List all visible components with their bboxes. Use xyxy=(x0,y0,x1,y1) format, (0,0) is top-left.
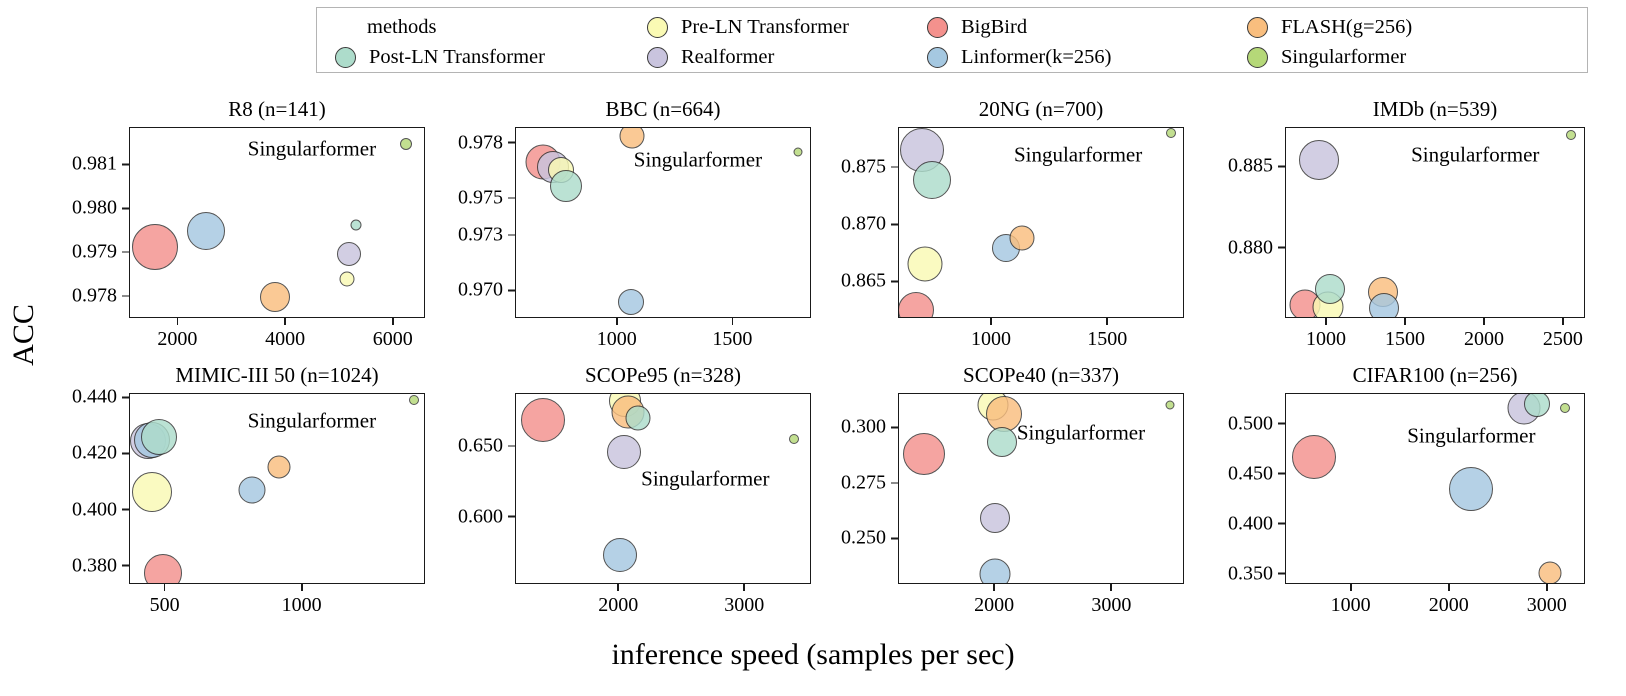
x-tick: 1000 xyxy=(282,584,322,617)
data-point-bigbird xyxy=(1292,435,1336,479)
y-tick-mark xyxy=(508,197,515,199)
subplot-title: BBC (n=664) xyxy=(515,97,811,122)
y-tick-label: 0.978 xyxy=(72,285,117,308)
x-tick-label: 2500 xyxy=(1543,328,1583,351)
plot-area xyxy=(1285,393,1585,584)
x-tick: 1000 xyxy=(597,318,637,351)
subplot-cifar100-n-256: CIFAR100 (n=256)Singularformer0.3500.400… xyxy=(1285,393,1585,584)
x-tick-label: 1000 xyxy=(1306,328,1346,351)
x-tick-mark xyxy=(732,318,734,325)
annotation-singularformer: Singularformer xyxy=(634,148,768,173)
y-tick-label: 0.973 xyxy=(458,223,503,246)
subplot-title: MIMIC-III 50 (n=1024) xyxy=(129,363,425,388)
x-tick: 1000 xyxy=(1306,318,1346,351)
legend-item-flash-g-256[interactable]: FLASH(g=256) xyxy=(1247,14,1412,40)
y-tick: 0.981 xyxy=(72,153,129,176)
x-tick: 1000 xyxy=(1331,584,1371,617)
y-tick-label: 0.979 xyxy=(72,241,117,264)
y-tick-mark xyxy=(891,427,898,429)
x-tick: 2000 xyxy=(598,584,638,617)
y-tick-label: 0.865 xyxy=(841,270,886,293)
subplot-title: SCOPe95 (n=328) xyxy=(515,363,811,388)
legend-item-post-ln-transformer[interactable]: Post-LN Transformer xyxy=(335,44,545,70)
y-tick-mark xyxy=(891,281,898,283)
data-point-flash-g-256 xyxy=(260,282,290,312)
data-point-singularformer xyxy=(1165,400,1174,409)
annotation-singularformer: Singularformer xyxy=(1014,142,1148,167)
data-point-post-ln-transformer xyxy=(550,170,582,202)
y-tick-mark xyxy=(122,509,129,511)
y-tick-label: 0.500 xyxy=(1228,412,1273,435)
data-point-singularformer xyxy=(794,147,803,156)
y-tick-label: 0.978 xyxy=(458,131,503,154)
x-tick-mark xyxy=(1448,584,1450,591)
legend-box: methodsPost-LN TransformerPre-LN Transfo… xyxy=(316,7,1588,73)
y-tick-mark xyxy=(508,142,515,144)
y-tick: 0.420 xyxy=(72,442,129,465)
annotation-singularformer: Singularformer xyxy=(1407,423,1541,448)
x-tick-mark xyxy=(993,584,995,591)
y-tick-label: 0.450 xyxy=(1228,462,1273,485)
y-tick-label: 0.440 xyxy=(72,386,117,409)
data-point-linformer-k-256 xyxy=(603,538,637,572)
x-tick-mark xyxy=(1562,318,1564,325)
annotation-singularformer: Singularformer xyxy=(1017,421,1151,446)
y-tick-label: 0.420 xyxy=(72,442,117,465)
data-point-linformer-k-256 xyxy=(618,289,644,315)
y-tick: 0.973 xyxy=(458,223,515,246)
y-axis-label: ACC xyxy=(7,290,41,380)
data-point-realformer xyxy=(1299,140,1339,180)
y-tick-mark xyxy=(891,482,898,484)
y-tick-label: 0.400 xyxy=(1228,512,1273,535)
y-tick: 0.880 xyxy=(1228,236,1285,259)
data-point-flash-g-256 xyxy=(1010,226,1035,251)
y-tick: 0.380 xyxy=(72,554,129,577)
x-tick-mark xyxy=(164,584,166,591)
x-tick-mark xyxy=(616,318,618,325)
subplot-title: R8 (n=141) xyxy=(129,97,425,122)
y-tick-mark xyxy=(1278,247,1285,249)
data-point-flash-g-256 xyxy=(620,127,645,149)
circle-marker xyxy=(647,47,668,68)
y-tick: 0.440 xyxy=(72,386,129,409)
x-tick-label: 2000 xyxy=(974,594,1014,617)
x-tick-mark xyxy=(392,318,394,325)
y-tick: 0.870 xyxy=(841,213,898,236)
y-tick-label: 0.400 xyxy=(72,498,117,521)
y-tick-mark xyxy=(508,445,515,447)
annotation-singularformer: Singularformer xyxy=(248,408,382,433)
x-tick-mark xyxy=(1106,318,1108,325)
data-point-singularformer xyxy=(409,395,419,405)
x-tick-label: 2000 xyxy=(598,594,638,617)
y-tick-mark xyxy=(122,163,129,165)
data-point-post-ln-transformer xyxy=(913,161,951,199)
y-tick-label: 0.981 xyxy=(72,153,117,176)
subplot-mimic-iii-50-n-1024: MIMIC-III 50 (n=1024)Singularformer0.380… xyxy=(129,393,425,584)
subplot-title: SCOPe40 (n=337) xyxy=(898,363,1184,388)
y-tick: 0.975 xyxy=(458,187,515,210)
x-tick: 2000 xyxy=(974,584,1014,617)
x-tick: 3000 xyxy=(1091,584,1131,617)
data-point-linformer-k-256 xyxy=(1449,467,1493,511)
x-tick-label: 1500 xyxy=(1385,328,1425,351)
x-tick-label: 2000 xyxy=(1429,594,1469,617)
data-point-realformer xyxy=(980,503,1010,533)
data-point-pre-ln-transformer xyxy=(908,246,943,281)
y-tick: 0.875 xyxy=(841,156,898,179)
x-tick-label: 1000 xyxy=(597,328,637,351)
x-tick: 1500 xyxy=(712,318,752,351)
y-tick-label: 0.975 xyxy=(458,187,503,210)
x-tick-mark xyxy=(284,318,286,325)
data-point-linformer-k-256 xyxy=(1369,293,1399,318)
subplot-bbc-n-664: BBC (n=664)Singularformer0.9700.9730.975… xyxy=(515,127,811,318)
data-point-singularformer xyxy=(1166,128,1176,138)
x-tick: 4000 xyxy=(265,318,305,351)
x-tick: 3000 xyxy=(1527,584,1567,617)
data-point-singularformer xyxy=(789,434,799,444)
y-tick-label: 0.350 xyxy=(1228,562,1273,585)
data-point-post-ln-transformer xyxy=(625,406,650,431)
legend-grid: methodsPost-LN TransformerPre-LN Transfo… xyxy=(317,8,1587,72)
y-tick-mark xyxy=(122,453,129,455)
y-tick-mark xyxy=(1278,523,1285,525)
x-tick-mark xyxy=(1404,318,1406,325)
y-tick-mark xyxy=(122,295,129,297)
y-tick-label: 0.875 xyxy=(841,156,886,179)
x-tick-label: 3000 xyxy=(1527,594,1567,617)
subplot-r8-n-141: R8 (n=141)Singularformer0.9780.9790.9800… xyxy=(129,127,425,318)
y-tick-label: 0.870 xyxy=(841,213,886,236)
data-point-singularformer xyxy=(1566,130,1576,140)
figure-root: methodsPost-LN TransformerPre-LN Transfo… xyxy=(0,0,1626,696)
x-tick: 2000 xyxy=(1429,584,1469,617)
data-point-bigbird xyxy=(521,398,565,442)
y-tick: 0.600 xyxy=(458,505,515,528)
legend-item-realformer[interactable]: Realformer xyxy=(647,44,774,70)
y-tick: 0.275 xyxy=(841,471,898,494)
x-tick-mark xyxy=(743,584,745,591)
legend-item-label: FLASH(g=256) xyxy=(1281,17,1412,38)
circle-marker xyxy=(335,47,356,68)
x-tick-label: 2000 xyxy=(157,328,197,351)
circle-marker xyxy=(927,17,948,38)
legend-item-label: Realformer xyxy=(681,47,774,68)
x-tick-label: 1500 xyxy=(1087,328,1127,351)
data-point-bigbird xyxy=(144,554,182,584)
subplot-scope40-n-337: SCOPe40 (n=337)Singularformer0.2500.2750… xyxy=(898,393,1184,584)
data-point-linformer-k-256 xyxy=(979,559,1010,584)
x-tick-label: 500 xyxy=(150,594,180,617)
circle-marker xyxy=(1247,17,1268,38)
data-point-post-ln-transformer xyxy=(1524,393,1550,417)
data-point-singularformer xyxy=(1560,403,1570,413)
x-tick: 500 xyxy=(150,584,180,617)
y-tick-label: 0.250 xyxy=(841,527,886,550)
y-tick-mark xyxy=(891,538,898,540)
x-tick-mark xyxy=(301,584,303,591)
data-point-bigbird xyxy=(132,224,178,270)
annotation-singularformer: Singularformer xyxy=(641,466,775,491)
legend-item-singularformer[interactable]: Singularformer xyxy=(1247,44,1406,70)
legend-item-label: Post-LN Transformer xyxy=(369,47,545,68)
x-tick: 3000 xyxy=(724,584,764,617)
y-tick-mark xyxy=(1278,573,1285,575)
x-tick-mark xyxy=(1110,584,1112,591)
data-point-post-ln-transformer xyxy=(987,427,1017,457)
legend-item-label: Singularformer xyxy=(1281,47,1406,68)
y-tick: 0.978 xyxy=(72,285,129,308)
y-tick: 0.980 xyxy=(72,197,129,220)
y-tick-label: 0.380 xyxy=(72,554,117,577)
subplot-20ng-n-700: 20NG (n=700)Singularformer0.8650.8700.87… xyxy=(898,127,1184,318)
y-tick-mark xyxy=(508,289,515,291)
x-tick: 2500 xyxy=(1543,318,1583,351)
x-tick: 1500 xyxy=(1385,318,1425,351)
x-tick: 1000 xyxy=(971,318,1011,351)
data-point-pre-ln-transformer xyxy=(132,472,172,512)
data-point-post-ln-transformer xyxy=(1315,274,1345,304)
data-point-post-ln-transformer xyxy=(351,220,362,231)
y-tick-mark xyxy=(508,516,515,518)
data-point-realformer xyxy=(337,242,361,266)
x-axis-label: inference speed (samples per sec) xyxy=(0,638,1626,672)
subplot-imdb-n-539: IMDb (n=539)Singularformer0.8800.8851000… xyxy=(1285,127,1585,318)
y-tick: 0.400 xyxy=(72,498,129,521)
subplot-title: IMDb (n=539) xyxy=(1285,97,1585,122)
data-point-realformer xyxy=(607,435,641,469)
subplot-title: CIFAR100 (n=256) xyxy=(1285,363,1585,388)
y-tick: 0.400 xyxy=(1228,512,1285,535)
data-point-linformer-2 xyxy=(239,476,266,503)
y-tick: 0.970 xyxy=(458,279,515,302)
y-tick-mark xyxy=(891,166,898,168)
y-tick-mark xyxy=(122,396,129,398)
x-tick-label: 3000 xyxy=(724,594,764,617)
annotation-singularformer: Singularformer xyxy=(1411,142,1545,167)
data-point-bigbird xyxy=(898,292,934,318)
x-tick-label: 2000 xyxy=(1464,328,1504,351)
circle-marker xyxy=(647,17,668,38)
y-tick: 0.865 xyxy=(841,270,898,293)
data-point-pre-ln-transformer xyxy=(340,272,355,287)
circle-marker xyxy=(1247,47,1268,68)
y-tick: 0.979 xyxy=(72,241,129,264)
y-tick-mark xyxy=(891,223,898,225)
subplot-title: 20NG (n=700) xyxy=(898,97,1184,122)
y-tick-label: 0.885 xyxy=(1228,155,1273,178)
y-tick-mark xyxy=(122,207,129,209)
x-tick-mark xyxy=(1483,318,1485,325)
x-tick-mark xyxy=(617,584,619,591)
y-tick-mark xyxy=(122,565,129,567)
x-tick-label: 6000 xyxy=(373,328,413,351)
legend-item-label: BigBird xyxy=(961,17,1027,38)
y-tick: 0.885 xyxy=(1228,155,1285,178)
y-tick-label: 0.980 xyxy=(72,197,117,220)
data-point-flash-g-256 xyxy=(1538,561,1561,584)
data-point-flash-g-256 xyxy=(267,456,290,479)
y-tick: 0.300 xyxy=(841,416,898,439)
legend-item-label: Linformer(k=256) xyxy=(961,47,1111,68)
y-tick-mark xyxy=(1278,473,1285,475)
y-tick-label: 0.970 xyxy=(458,279,503,302)
x-tick-mark xyxy=(177,318,179,325)
y-tick-label: 0.650 xyxy=(458,435,503,458)
x-tick: 1500 xyxy=(1087,318,1127,351)
y-tick-label: 0.300 xyxy=(841,416,886,439)
x-tick-mark xyxy=(1546,584,1548,591)
y-tick-label: 0.600 xyxy=(458,505,503,528)
data-point-bigbird xyxy=(903,433,945,475)
x-tick-label: 4000 xyxy=(265,328,305,351)
x-tick-mark xyxy=(990,318,992,325)
legend-title: methods xyxy=(335,14,436,40)
y-tick: 0.250 xyxy=(841,527,898,550)
subplot-scope95-n-328: SCOPe95 (n=328)Singularformer0.6000.6502… xyxy=(515,393,811,584)
y-tick: 0.500 xyxy=(1228,412,1285,435)
annotation-singularformer: Singularformer xyxy=(248,136,382,161)
y-tick-mark xyxy=(508,234,515,236)
legend-title-spacer xyxy=(335,18,354,37)
legend-item-bigbird[interactable]: BigBird xyxy=(927,14,1027,40)
y-tick-label: 0.275 xyxy=(841,471,886,494)
x-tick-label: 1500 xyxy=(712,328,752,351)
y-tick: 0.350 xyxy=(1228,562,1285,585)
y-tick: 0.978 xyxy=(458,131,515,154)
circle-marker xyxy=(927,47,948,68)
x-tick: 6000 xyxy=(373,318,413,351)
legend-item-label: Pre-LN Transformer xyxy=(681,17,849,38)
y-tick: 0.450 xyxy=(1228,462,1285,485)
data-point-singularformer xyxy=(400,138,412,150)
x-tick: 2000 xyxy=(157,318,197,351)
y-tick-mark xyxy=(1278,423,1285,425)
legend-item-linformer-k-256[interactable]: Linformer(k=256) xyxy=(927,44,1111,70)
x-tick-label: 1000 xyxy=(1331,594,1371,617)
data-point-linformer-k-256 xyxy=(187,212,225,250)
y-tick-mark xyxy=(122,251,129,253)
x-tick: 2000 xyxy=(1464,318,1504,351)
data-point-post-ln-transformer xyxy=(141,419,177,455)
x-tick-mark xyxy=(1325,318,1327,325)
x-tick-mark xyxy=(1350,584,1352,591)
x-tick-label: 3000 xyxy=(1091,594,1131,617)
x-tick-label: 1000 xyxy=(971,328,1011,351)
y-tick: 0.650 xyxy=(458,435,515,458)
legend-item-pre-ln-transformer[interactable]: Pre-LN Transformer xyxy=(647,14,849,40)
legend-title-label: methods xyxy=(367,17,436,38)
x-tick-label: 1000 xyxy=(282,594,322,617)
y-tick-mark xyxy=(1278,165,1285,167)
y-tick-label: 0.880 xyxy=(1228,236,1273,259)
